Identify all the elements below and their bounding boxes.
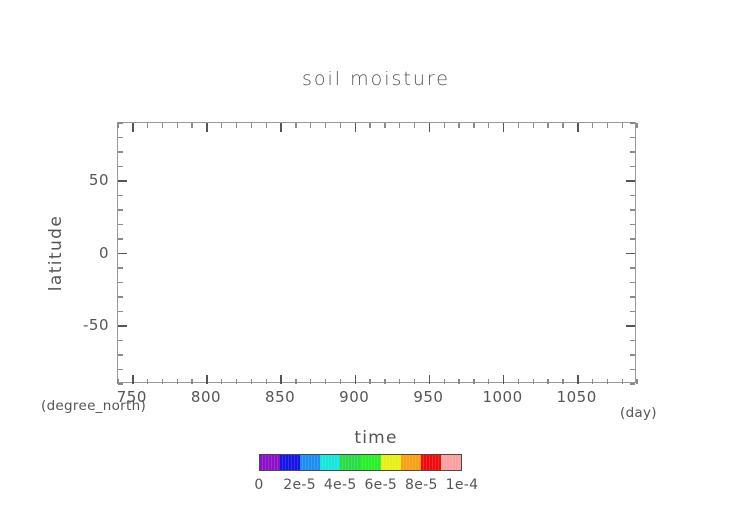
x-axis-tick [444,379,445,384]
x-axis-tick-top [488,123,489,128]
x-axis-tick-top [280,123,282,132]
y-axis-tick [118,224,123,225]
y-axis-tick-right [626,253,635,255]
x-axis-tick [206,375,208,384]
y-axis-tick-right [630,311,635,312]
x-axis-tick-top [577,123,579,132]
x-axis-tick-top [384,123,385,128]
x-axis-tick [518,379,519,384]
x-axis-tick [414,379,415,384]
x-axis-tick [310,379,311,384]
colorbar-band[interactable] [280,455,300,470]
x-axis-tick-top [399,123,400,128]
x-axis-tick [355,375,357,384]
colorbar-bands[interactable] [259,454,462,471]
y-axis-tick [118,195,123,196]
x-axis-tick [251,379,252,384]
y-axis-tick [118,383,123,384]
x-axis-tick [384,379,385,384]
x-axis-tick [221,379,222,384]
x-axis-tick-top [622,123,623,128]
x-axis-tick-label: 800 [191,388,221,406]
x-axis-tick-top [266,123,267,128]
y-axis-tick [118,166,123,167]
x-axis-tick-top [191,123,192,128]
x-axis-tick-top [414,123,415,128]
y-axis-tick-label: 0 [99,244,109,262]
y-axis-tick [118,282,123,283]
x-axis-tick-top [636,123,637,128]
x-axis-tick-top [458,123,459,128]
y-axis-tick-right [630,354,635,355]
x-axis-tick-top [295,123,296,128]
x-axis-tick-top [117,123,118,128]
x-axis-tick [636,379,637,384]
x-axis-tick [622,379,623,384]
x-axis-tick-top [325,123,326,128]
y-axis-tick-right [630,224,635,225]
x-axis-tick [473,379,474,384]
y-axis-tick-right [630,195,635,196]
x-axis-tick-top [251,123,252,128]
colorbar-band[interactable] [360,455,380,470]
colorbar-band[interactable] [300,455,320,470]
colorbar-band[interactable] [260,455,280,470]
y-axis-tick-right [626,180,635,182]
colorbar-tick-label: 8e-5 [405,477,438,493]
y-axis-tick [118,340,123,341]
x-axis-tick [369,379,370,384]
colorbar-tick-label: 6e-5 [364,477,397,493]
x-axis-tick [117,379,118,384]
x-axis-tick-top [473,123,474,128]
x-axis-tick [162,379,163,384]
plot-frame[interactable] [117,122,636,383]
y-axis-tick-label: 50 [89,171,109,189]
x-axis-tick-label: 1050 [557,388,597,406]
x-axis-tick-top [355,123,357,132]
colorbar-tick-label: 1e-4 [446,477,479,493]
x-axis-tick-top [340,123,341,128]
y-axis-tick-right [630,296,635,297]
y-axis-tick-right [630,137,635,138]
x-axis-tick-top [562,123,563,128]
x-axis-tick [340,379,341,384]
y-axis-tick [118,151,123,152]
y-axis-tick [118,354,123,355]
chart-title: soil moisture [0,68,752,90]
x-axis-tick-top [132,123,134,132]
colorbar-band[interactable] [340,455,360,470]
colorbar[interactable] [259,454,462,471]
y-axis-tick-labels: 500-50 [73,122,109,383]
x-axis-tick-top [206,123,208,132]
x-axis-tick [429,375,431,384]
colorbar-band[interactable] [381,455,401,470]
y-axis-tick [118,238,123,239]
y-axis-tick [118,267,123,268]
y-axis-tick [118,296,123,297]
x-axis-tick [577,375,579,384]
y-axis-tick-right [630,238,635,239]
x-axis-tick-top [310,123,311,128]
x-axis-tick-top [236,123,237,128]
x-axis-tick [236,379,237,384]
x-axis-title: time [0,428,752,448]
y-axis-title: latitude [44,122,68,383]
x-axis-tick [266,379,267,384]
x-axis-tick [280,375,282,384]
y-axis-tick [118,311,123,312]
x-axis-tick-top [147,123,148,128]
x-axis-tick-label: 1000 [482,388,522,406]
x-axis-tick-top [429,123,431,132]
y-axis-tick [118,253,127,255]
y-axis-tick [118,180,127,182]
y-axis-tick [118,137,123,138]
x-axis-tick [295,379,296,384]
y-axis-tick-right [630,282,635,283]
y-axis-tick [118,369,123,370]
y-axis-tick-label: -50 [83,316,109,334]
colorbar-band[interactable] [441,455,461,470]
x-axis-tick [177,379,178,384]
x-axis-tick-top [592,123,593,128]
x-axis-tick-top [503,123,505,132]
x-axis-tick [147,379,148,384]
y-axis-tick-right [630,383,635,384]
colorbar-tick-label: 2e-5 [283,477,316,493]
y-axis-tick-right [630,369,635,370]
y-axis-tick-right [630,122,635,123]
x-axis-tick [458,379,459,384]
x-axis-tick-top [177,123,178,128]
y-axis-tick [118,122,123,123]
colorbar-tick-labels: 02e-54e-56e-58e-51e-4 [259,477,462,497]
y-axis-tick-right [630,267,635,268]
colorbar-tick-label: 4e-5 [324,477,357,493]
x-axis-tick [547,379,548,384]
y-axis-tick [118,209,123,210]
x-axis-tick [191,379,192,384]
x-axis-tick [132,375,134,384]
x-axis-tick-labels: 75080085090095010001050 [117,388,636,410]
y-axis-tick-right [630,166,635,167]
x-axis-tick-top [607,123,608,128]
y-axis-tick-right [626,325,635,327]
x-axis-tick [399,379,400,384]
colorbar-band[interactable] [421,455,441,470]
x-axis-tick [533,379,534,384]
x-axis-tick-top [533,123,534,128]
colorbar-tick-label: 0 [254,477,263,493]
x-axis-tick [607,379,608,384]
x-axis-tick-label: 950 [413,388,443,406]
y-axis-tick-right [630,209,635,210]
x-axis-tick [503,375,505,384]
x-axis-unit-label: (day) [620,405,657,421]
x-axis-tick-top [369,123,370,128]
y-axis-unit-label: (degree_north) [41,398,146,414]
y-axis-tick [118,325,127,327]
plot-area[interactable] [118,123,635,382]
colorbar-band[interactable] [320,455,340,470]
colorbar-band[interactable] [401,455,421,470]
x-axis-tick-label: 850 [265,388,295,406]
x-axis-tick [325,379,326,384]
y-axis-tick-right [630,151,635,152]
x-axis-tick-top [518,123,519,128]
x-axis-tick-top [444,123,445,128]
y-axis-tick-right [630,340,635,341]
x-axis-tick-top [162,123,163,128]
x-axis-tick-label: 900 [339,388,369,406]
x-axis-tick [562,379,563,384]
y-axis-title-text: latitude [46,214,66,290]
x-axis-tick [488,379,489,384]
x-axis-tick-top [221,123,222,128]
x-axis-tick-top [547,123,548,128]
x-axis-tick [592,379,593,384]
figure-canvas: soil moisture latitude 500-50 7508008509… [0,0,752,532]
